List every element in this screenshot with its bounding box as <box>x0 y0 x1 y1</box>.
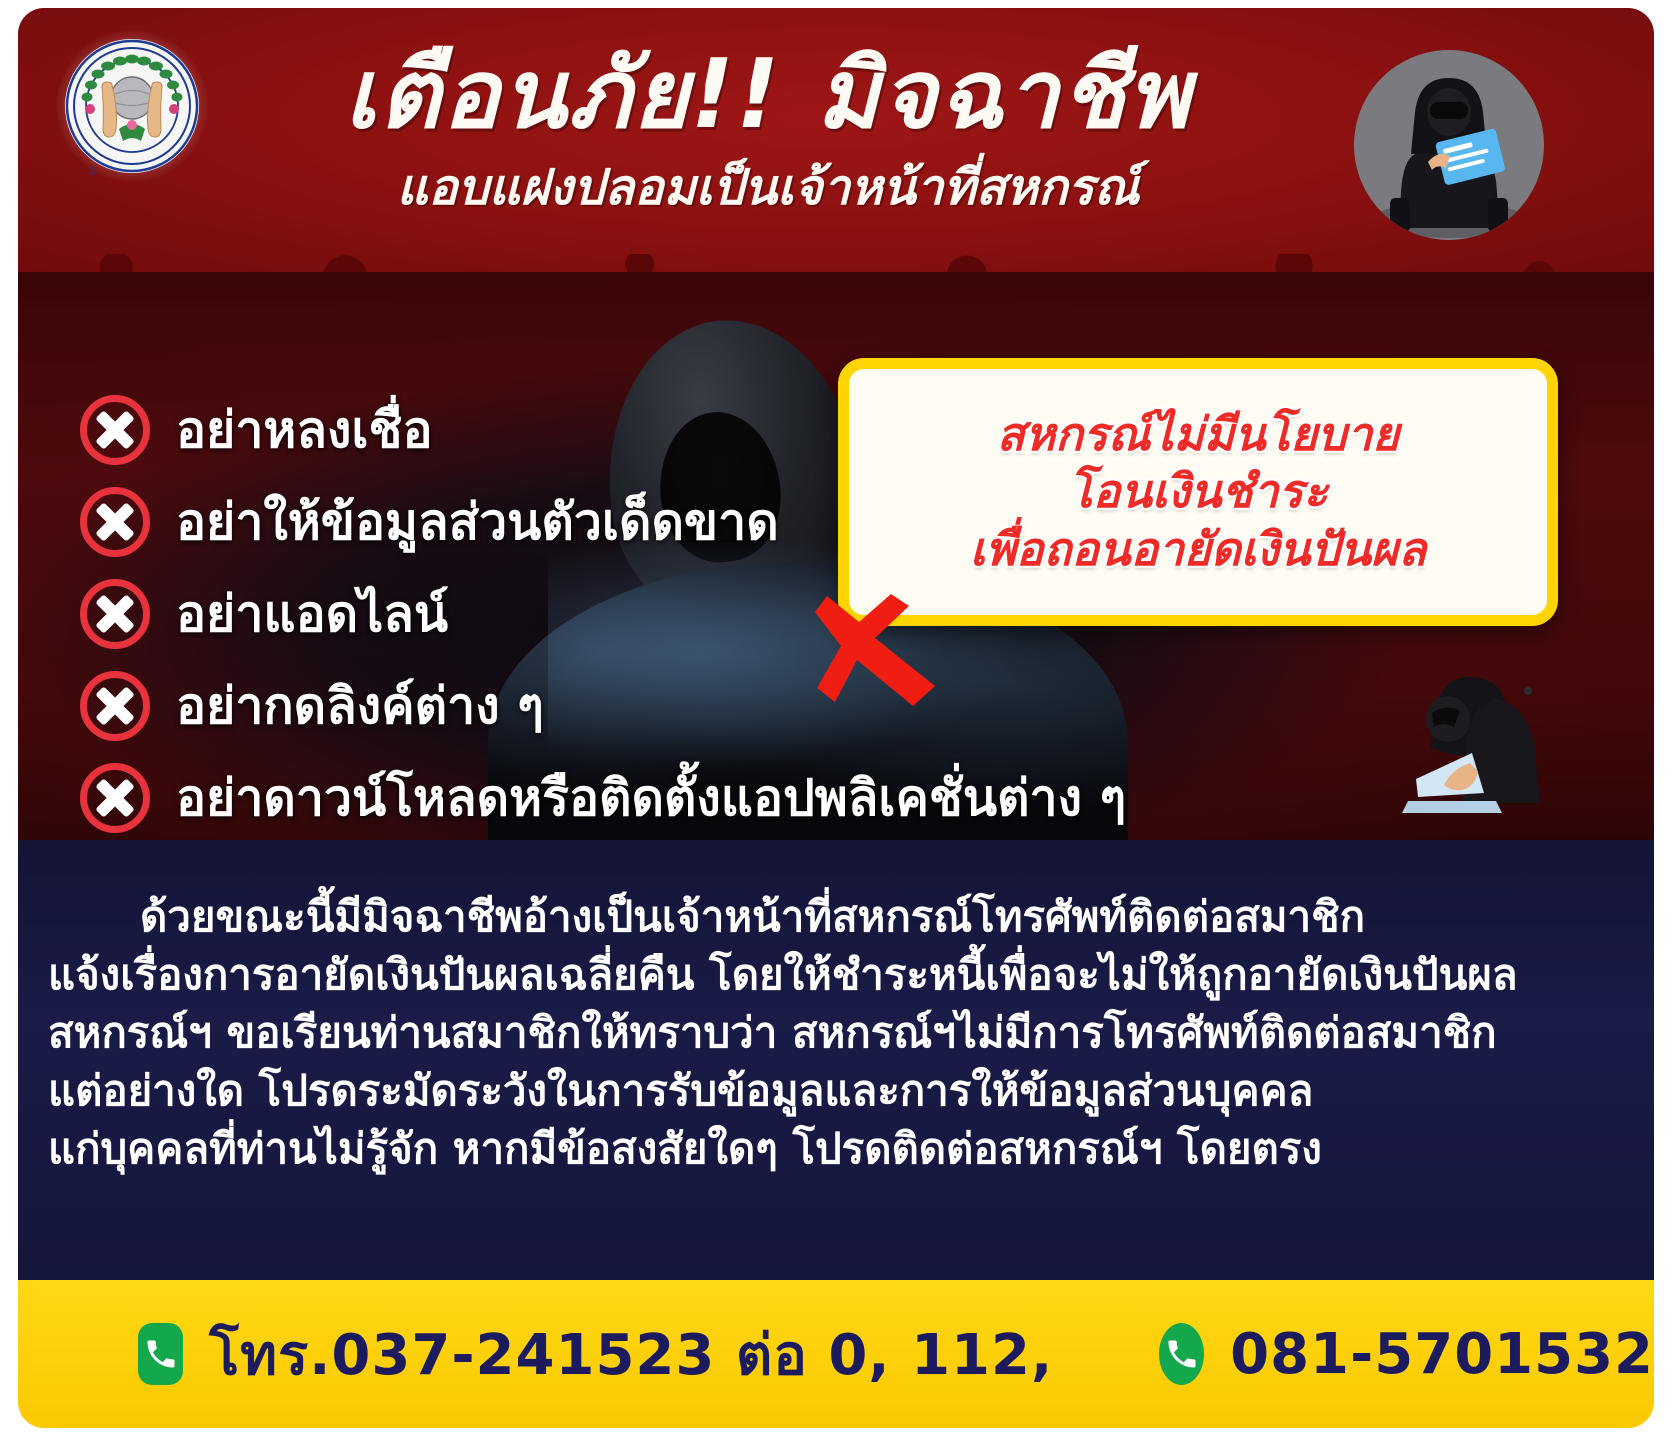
cooperative-seal-svg: สหกรณ์ออมทรัพย์ครูจังหวัด จำกัด <box>63 37 201 175</box>
header-title-block: เตือนภัย!! มิจฉาชีพ แอบแฝงปลอมเป็นเจ้าหน… <box>318 36 1218 218</box>
warning-label: อย่าหลงเชื่อ <box>176 405 432 455</box>
red-x-brush-icon <box>813 590 943 710</box>
warning-label: อย่ากดลิงค์ต่าง ๆ <box>176 681 544 731</box>
x-circle-icon <box>80 763 150 833</box>
body-line-4: แต่อย่างใด โปรดระมัดระวังในการรับข้อมูลแ… <box>48 1062 1624 1120</box>
hacker-at-laptop-illustration <box>1320 647 1600 832</box>
callout-line-2: โอนเงินชำระ <box>1068 463 1328 521</box>
hacker-laptop-svg <box>1320 647 1600 832</box>
poster-subtitle: แอบแฝงปลอมเป็นเจ้าหน้าที่สหกรณ์ <box>318 159 1218 218</box>
body-line-5: แก่บุคคลที่ท่านไม่รู้จัก หากมีข้อสงสัยใด… <box>48 1120 1624 1178</box>
x-circle-icon <box>80 671 150 741</box>
x-circle-icon <box>80 579 150 649</box>
warning-item: อย่ากดลิงค์ต่าง ๆ <box>80 670 1280 742</box>
body-line-3: สหกรณ์ฯ ขอเรียนท่านสมาชิกให้ทราบว่า สหกร… <box>48 1004 1624 1062</box>
x-circle-icon <box>80 487 150 557</box>
warning-label: อย่าแอดไลน์ <box>176 589 448 639</box>
telephone-glyph <box>143 1336 179 1372</box>
mobile-phone-glyph <box>1164 1336 1200 1372</box>
red-x-svg <box>813 590 943 710</box>
warning-item: อย่าดาวน์โหลดหรือติดตั้งแอปพลิเคชั่นต่าง… <box>80 762 1280 834</box>
hacker-badge-svg <box>1354 50 1544 240</box>
cooperative-seal-logo: สหกรณ์ออมทรัพย์ครูจังหวัด จำกัด <box>56 30 208 182</box>
policy-callout-box: สหกรณ์ไม่มีนโยบาย โอนเงินชำระ เพื่อถอนอา… <box>838 358 1558 626</box>
poster-header: สหกรณ์ออมทรัพย์ครูจังหวัด จำกัด เตือนภัย… <box>18 8 1654 280</box>
poster-title: เตือนภัย!! มิจฉาชีพ <box>318 36 1218 155</box>
warning-label: อย่าให้ข้อมูลส่วนตัวเด็ดขาด <box>176 497 779 547</box>
hooded-hacker-icon <box>1354 50 1544 240</box>
phone-primary[interactable]: โทร.037-241523 ต่อ 0, 112, <box>209 1310 1053 1399</box>
callout-line-1: สหกรณ์ไม่มีนโยบาย <box>997 406 1400 464</box>
callout-line-3: เพื่อถอนอายัดเงินปันผล <box>970 521 1426 579</box>
telephone-icon <box>138 1323 183 1385</box>
body-line-1: ด้วยขณะนี้มีมิจฉาชีพอ้างเป็นเจ้าหน้าที่ส… <box>48 888 1624 946</box>
x-circle-icon <box>80 395 150 465</box>
mobile-phone-icon <box>1159 1323 1204 1385</box>
phone-mobile[interactable]: 081-5701532 <box>1230 1322 1654 1387</box>
announcement-body: ด้วยขณะนี้มีมิจฉาชีพอ้างเป็นเจ้าหน้าที่ส… <box>18 840 1654 1280</box>
body-line-2: แจ้งเรื่องการอายัดเงินปันผลเฉลี่ยคืน โดย… <box>48 946 1624 1004</box>
warning-label: อย่าดาวน์โหลดหรือติดตั้งแอปพลิเคชั่นต่าง… <box>176 773 1126 823</box>
scam-warning-poster: สหกรณ์ออมทรัพย์ครูจังหวัด จำกัด เตือนภัย… <box>0 0 1672 1444</box>
contact-footer: โทร.037-241523 ต่อ 0, 112, 081-5701532 <box>18 1280 1654 1428</box>
